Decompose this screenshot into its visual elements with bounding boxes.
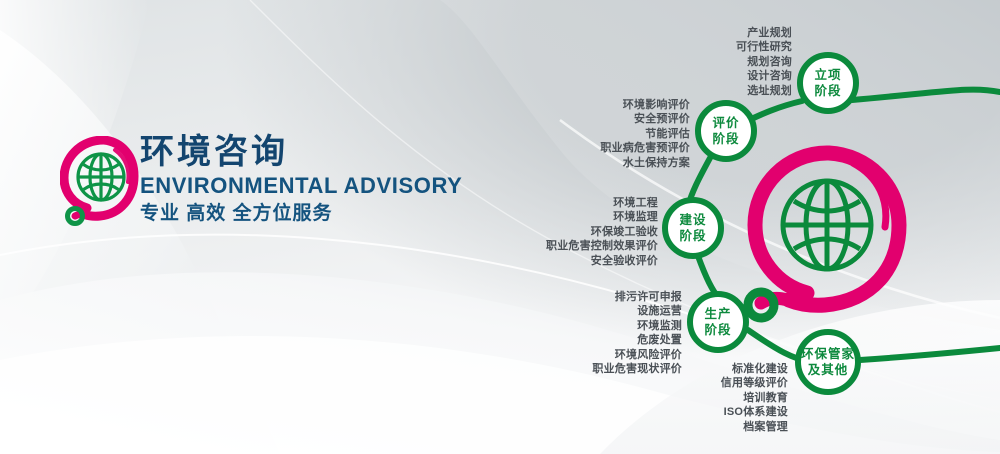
leaf-item: 产业规划 (736, 26, 792, 40)
banner-root: 环境咨询 ENVIRONMENTAL ADVISORY 专业 高效 全方位服务 (0, 0, 1000, 454)
globe-swoosh-logo-icon (60, 136, 144, 228)
leaf-list-lixiang: 产业规划 可行性研究 规划咨询 设计咨询 选址规划 (736, 26, 792, 98)
node-jianshe-line2: 阶段 (679, 228, 706, 243)
leaf-item: 设施运营 (592, 304, 682, 318)
leaf-item: 信用等级评价 (721, 376, 788, 390)
leaf-item: 设计咨询 (736, 69, 792, 83)
node-circle-shengchan: 生产 阶段 (690, 294, 746, 350)
leaf-list-pingjia: 环境影响评价 安全预评价 节能评估 职业病危害预评价 水土保持方案 (600, 98, 690, 170)
brand-text-group: 环境咨询 ENVIRONMENTAL ADVISORY 专业 高效 全方位服务 (140, 132, 462, 228)
leaf-item: 水土保持方案 (600, 156, 690, 170)
node-lixiang-line2: 阶段 (814, 83, 841, 98)
node-circle-pingjia: 评价 阶段 (698, 103, 754, 159)
leaf-item: 危废处置 (592, 333, 682, 347)
leaf-item: ISO体系建设 (721, 405, 788, 419)
leaf-item: 环保竣工验收 (546, 225, 658, 239)
brand-subtitle-en: ENVIRONMENTAL ADVISORY (140, 172, 462, 200)
brand-block: 环境咨询 ENVIRONMENTAL ADVISORY 专业 高效 全方位服务 (60, 132, 490, 237)
leaf-item: 环境影响评价 (600, 98, 690, 112)
leaf-item: 规划咨询 (736, 55, 792, 69)
process-diagram: 立项 阶段 评价 阶段 建设 阶段 生产 阶段 环保管家 及其他 (540, 0, 1000, 454)
node-circle-jianshe: 建设 阶段 (665, 200, 721, 256)
leaf-item: 标准化建设 (721, 362, 788, 376)
leaf-item: 环境监测 (592, 319, 682, 333)
leaf-item: 职业病危害预评价 (600, 141, 690, 155)
leaf-item: 安全验收评价 (546, 254, 658, 268)
node-jianshe-line1: 建设 (679, 212, 706, 227)
leaf-item: 培训教育 (721, 391, 788, 405)
node-lixiang-line1: 立项 (814, 67, 841, 82)
leaf-item: 环境监理 (546, 210, 658, 224)
leaf-item: 安全预评价 (600, 112, 690, 126)
node-huanbao-line1: 环保管家 (801, 346, 855, 361)
node-pingjia-line2: 阶段 (712, 131, 739, 146)
leaf-item: 环境工程 (546, 196, 658, 210)
node-pingjia-line1: 评价 (712, 116, 739, 130)
leaf-item: 排污许可申报 (592, 290, 682, 304)
globe-swoosh-emblem-icon (748, 153, 899, 318)
brand-subtitle-cn: 专业 高效 全方位服务 (140, 200, 462, 228)
leaf-item: 职业危害现状评价 (592, 362, 682, 376)
leaf-item: 档案管理 (721, 420, 788, 434)
node-circle-huanbao: 环保管家 及其他 (798, 332, 858, 392)
leaf-list-shengchan: 排污许可申报 设施运营 环境监测 危废处置 环境风险评价 职业危害现状评价 (592, 290, 682, 376)
node-shengchan-line1: 生产 (704, 306, 731, 321)
leaf-item: 环境风险评价 (592, 348, 682, 362)
leaf-item: 选址规划 (736, 84, 792, 98)
leaf-item: 节能评估 (600, 127, 690, 141)
node-circle-lixiang: 立项 阶段 (800, 55, 856, 111)
node-shengchan-line2: 阶段 (704, 322, 731, 337)
node-huanbao-line2: 及其他 (808, 362, 849, 377)
leaf-list-jianshe: 环境工程 环境监理 环保竣工验收 职业危害控制效果评价 安全验收评价 (546, 196, 658, 268)
leaf-item: 可行性研究 (736, 40, 792, 54)
leaf-item: 职业危害控制效果评价 (546, 239, 658, 253)
page-title: 环境咨询 (140, 132, 462, 172)
leaf-list-huanbao: 标准化建设 信用等级评价 培训教育 ISO体系建设 档案管理 (721, 362, 788, 434)
